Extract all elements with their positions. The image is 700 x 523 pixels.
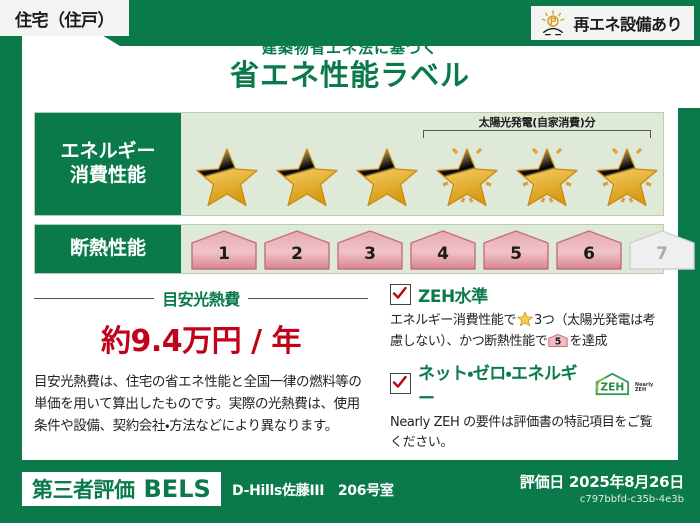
bracket-line xyxy=(423,130,651,138)
zeh-standard-body: エネルギー消費性能で3つ（太陽光発電は考慮しない）、かつ断熱性能で5を達成 xyxy=(390,311,664,353)
star-icon xyxy=(435,147,499,209)
insulation-grade-badge-inactive: 7 xyxy=(627,229,697,271)
star-rating-item-solar xyxy=(589,139,665,209)
star-icon xyxy=(195,147,259,209)
insulation-performance-row: 断熱性能 1 xyxy=(34,224,664,274)
energy-label-line1: エネルギー xyxy=(60,140,155,164)
svg-text:5: 5 xyxy=(555,336,561,347)
header-banner: 住宅（住戸） 再エネ設備あり 建築物省エネ法に基づく 省エネ性能ラベル xyxy=(0,0,700,108)
utility-cost-heading: 目安光熱費 xyxy=(34,286,368,310)
zeh-standard-head: ZEH水準 xyxy=(390,282,664,307)
building-name: D-Hills佐藤III 206号室 xyxy=(232,480,394,500)
energy-stars-area: 太陽光発電(自家消費)分 xyxy=(181,113,663,215)
check-icon xyxy=(392,375,407,390)
insulation-grade-badge: 5 xyxy=(481,229,551,271)
utility-cost-amount: 約9.4万円 / 年 xyxy=(34,316,368,360)
insulation-grade-badge: 2 xyxy=(262,229,332,271)
net-zero-energy-check: ネット・ゼロ・エネルギー ZEH Nearly ZEH Nearly ZEH の… xyxy=(390,359,664,455)
lower-info-area: 目安光熱費 約9.4万円 / 年 目安光熱費は、住宅の省エネ性能と全国一律の燃料… xyxy=(34,282,664,450)
insulation-performance-label: 断熱性能 xyxy=(35,225,181,273)
star-icon xyxy=(515,147,579,209)
rule-left xyxy=(34,298,154,299)
star-icon xyxy=(355,147,419,209)
zeh-house-logo-icon: ZEH xyxy=(592,371,633,397)
net-zero-body: Nearly ZEH の要件は評価書の特記項目をご覧ください。 xyxy=(390,413,664,455)
energy-label-line2: 消費性能 xyxy=(70,164,146,188)
energy-performance-row: エネルギー 消費性能 太陽光発電(自家消費)分 xyxy=(34,112,664,216)
net-zero-title: ネット・ゼロ・エネルギー xyxy=(418,359,581,409)
insulation-label-text: 断熱性能 xyxy=(70,237,146,261)
zeh-standard-checkbox[interactable] xyxy=(390,284,411,305)
star-rating-item-solar xyxy=(429,139,505,209)
net-zero-checkbox[interactable] xyxy=(390,373,411,394)
evaluation-date: 評価日 2025年8月26日 xyxy=(520,471,684,492)
insulation-grade-value: 7 xyxy=(627,244,697,264)
housing-type-label: 住宅（住戸） xyxy=(15,6,114,31)
star-icon xyxy=(595,147,659,209)
insulation-grade-value: 6 xyxy=(554,244,624,264)
energy-performance-label-card: 住宅（住戸） 再エネ設備あり 建築物省エネ法に基づく 省エネ性能ラベル xyxy=(0,0,700,523)
solar-generation-bracket: 太陽光発電(自家消費)分 xyxy=(423,117,651,138)
certification-checks: ZEH水準 エネルギー消費性能で3つ（太陽光発電は考慮しない）、かつ断熱性能で5… xyxy=(390,282,664,460)
third-party-label: 第三者評価 xyxy=(32,474,135,504)
solar-bracket-label: 太陽光発電(自家消費)分 xyxy=(423,117,651,129)
net-zero-head: ネット・ゼロ・エネルギー ZEH Nearly ZEH xyxy=(390,359,664,409)
insulation-grade-badge: 6 xyxy=(554,229,624,271)
insulation-grade-value: 3 xyxy=(335,244,405,264)
energy-star-rating xyxy=(189,139,665,209)
insulation-grade-value: 4 xyxy=(408,244,478,264)
zeh-standard-title: ZEH水準 xyxy=(418,282,488,307)
evaluation-id: c797bbfd-c35b-4e3b xyxy=(520,494,684,505)
sun-solar-icon xyxy=(539,10,567,36)
evaluation-info: 評価日 2025年8月26日 c797bbfd-c35b-4e3b xyxy=(520,471,684,505)
star-icon xyxy=(517,311,533,327)
utility-cost-heading-text: 目安光熱費 xyxy=(162,286,240,310)
star-rating-item xyxy=(349,139,425,209)
insulation-grade-list: 1 2 3 xyxy=(189,229,697,271)
bels-mark: BELS xyxy=(144,475,211,503)
star-icon xyxy=(275,147,339,209)
zeh-logo: ZEH Nearly ZEH xyxy=(592,371,664,397)
zeh-standard-check: ZEH水準 エネルギー消費性能で3つ（太陽光発電は考慮しない）、かつ断熱性能で5… xyxy=(390,282,664,353)
star-rating-item xyxy=(189,139,265,209)
utility-cost-note: 目安光熱費は、住宅の省エネ性能と全国一律の燃料等の単価を用いて算出したものです。… xyxy=(34,372,368,438)
bels-certification-box: 第三者評価 BELS xyxy=(22,472,221,506)
housing-type-tag: 住宅（住戸） xyxy=(0,0,129,36)
insulation-grade-value: 5 xyxy=(481,244,551,264)
rule-right xyxy=(248,298,368,299)
energy-performance-label: エネルギー 消費性能 xyxy=(35,113,181,215)
insulation-grades-area: 1 2 3 xyxy=(181,225,663,273)
check-icon xyxy=(392,286,407,301)
insulation-grade-value: 1 xyxy=(189,244,259,264)
insulation-grade-badge: 3 xyxy=(335,229,405,271)
label-footer: 第三者評価 BELS D-Hills佐藤III 206号室 評価日 2025年8… xyxy=(0,463,700,523)
label-body: エネルギー 消費性能 太陽光発電(自家消費)分 xyxy=(22,100,678,460)
star-rating-item-solar xyxy=(509,139,585,209)
zeh-body-part3: を達成 xyxy=(569,334,607,349)
house-grade-badge-icon: 5 xyxy=(548,333,568,348)
insulation-grade-badge: 4 xyxy=(408,229,478,271)
svg-text:ZEH: ZEH xyxy=(601,380,625,393)
insulation-grade-value: 2 xyxy=(262,244,332,264)
renewable-energy-badge: 再エネ設備あり xyxy=(531,6,694,40)
renewable-badge-label: 再エネ設備あり xyxy=(573,11,682,35)
insulation-grade-badge: 1 xyxy=(189,229,259,271)
star-rating-item xyxy=(269,139,345,209)
zeh-body-part1: エネルギー消費性能で xyxy=(390,313,516,328)
zeh-logo-subtext: Nearly ZEH xyxy=(635,383,664,397)
utility-cost-section: 目安光熱費 約9.4万円 / 年 目安光熱費は、住宅の省エネ性能と全国一律の燃料… xyxy=(34,282,368,438)
